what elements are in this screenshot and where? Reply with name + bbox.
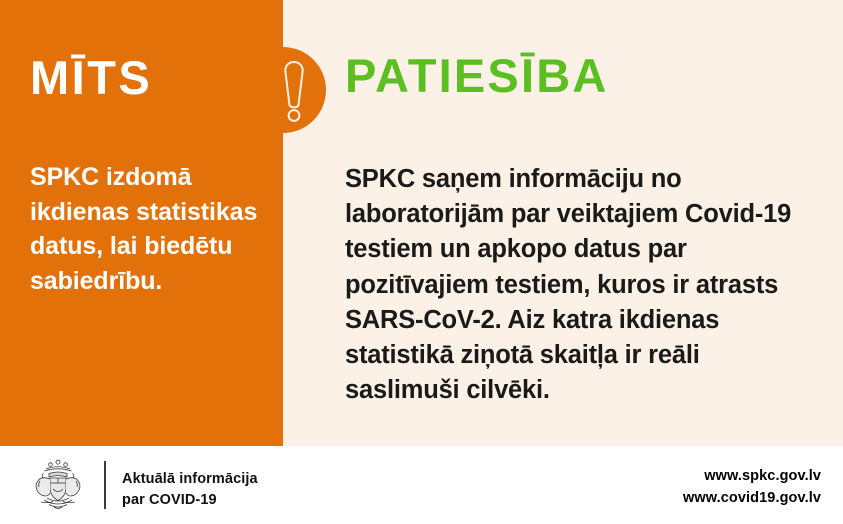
- footer-divider: [104, 461, 106, 509]
- truth-body-text: SPKC saņem informāciju no laboratorijām …: [345, 162, 820, 408]
- myth-body-text: SPKC izdomā ikdienas statistikas datus, …: [30, 160, 265, 298]
- myth-title: MĪTS: [30, 54, 152, 101]
- link-covid19[interactable]: www.covid19.gov.lv: [683, 488, 821, 510]
- latvia-coat-of-arms-icon: [29, 458, 87, 513]
- footer-caption: Aktuālā informācija par COVID-19: [122, 469, 258, 511]
- truth-title: PATIESĪBA: [345, 52, 609, 99]
- footer-links: www.spkc.gov.lv www.covid19.gov.lv: [683, 466, 821, 510]
- exclamation-mark-icon: [281, 59, 307, 123]
- footer-caption-line-1: Aktuālā informācija: [122, 469, 258, 490]
- footer-caption-line-2: par COVID-19: [122, 490, 258, 511]
- infographic-poster: MĪTS SPKC izdomā ikdienas statistikas da…: [0, 0, 843, 524]
- link-spkc[interactable]: www.spkc.gov.lv: [683, 466, 821, 488]
- myth-panel-bulge-mask: [240, 47, 283, 133]
